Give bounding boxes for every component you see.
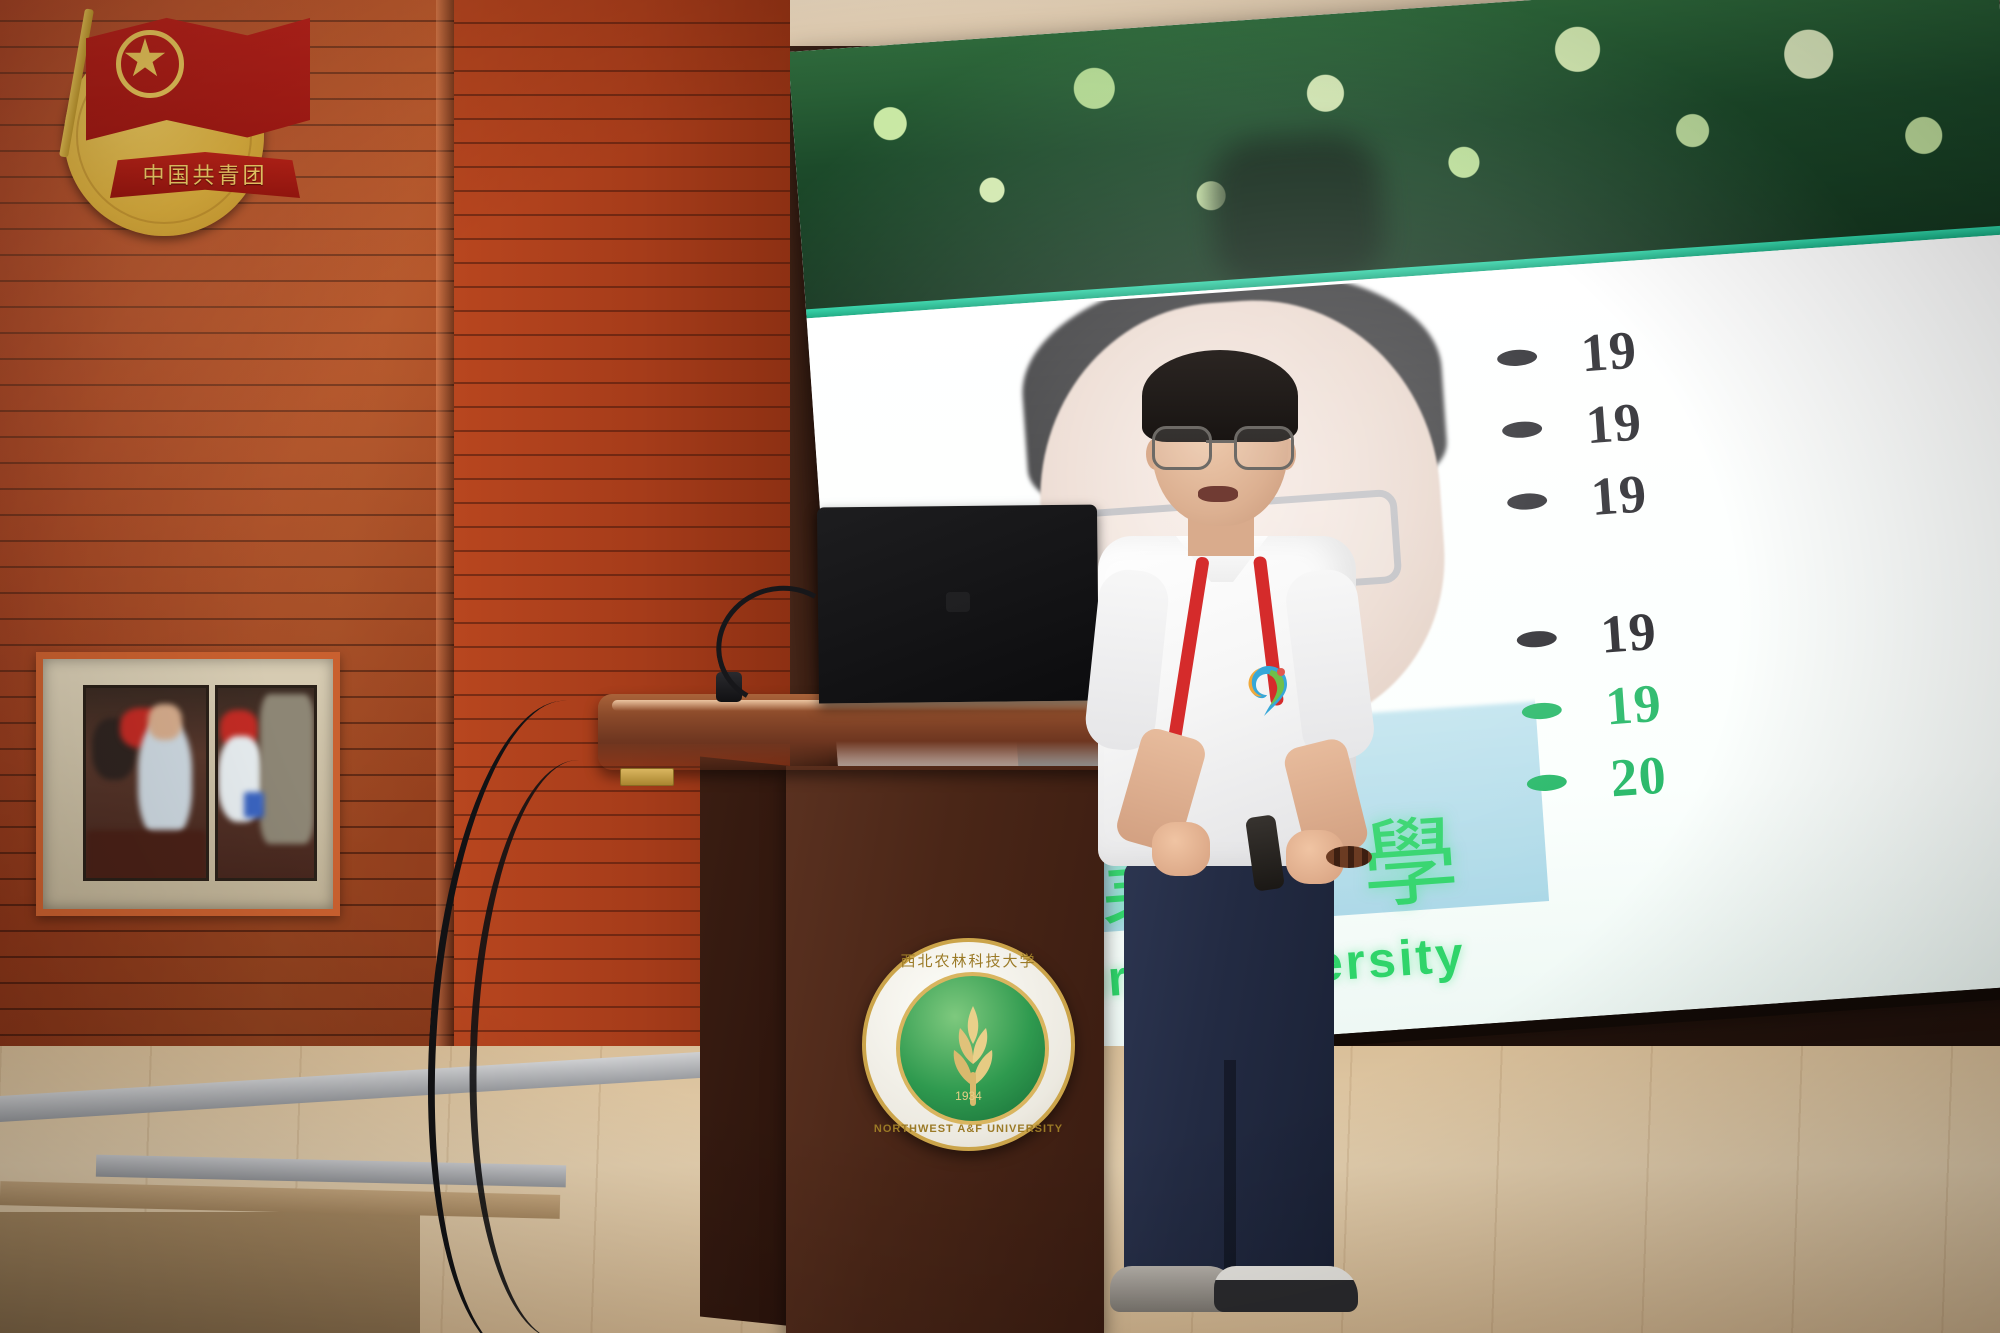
window-desk-shape: [86, 830, 206, 881]
window-pane-right: [215, 685, 317, 881]
presenter-shoe-right: [1214, 1266, 1358, 1312]
floor-lower-step: [0, 1212, 420, 1333]
communist-youth-league-emblem: 中国共青团: [28, 8, 308, 238]
slide-bullet-text: 19: [1584, 390, 1644, 456]
presenter-laptop[interactable]: [817, 505, 1099, 704]
lectern-side: [700, 757, 790, 1326]
presenter-hand-left: [1152, 822, 1210, 876]
slide-bullet-text: 19: [1603, 672, 1663, 738]
slide-photo-shadow: [1207, 131, 1387, 292]
slide-bullet-text: 19: [1598, 600, 1658, 666]
glasses-lens-left: [1152, 426, 1212, 470]
laptop-logo-icon: [946, 592, 970, 612]
slide-bullet-text: 19: [1579, 319, 1639, 385]
presenter-mouth: [1198, 486, 1238, 502]
presenter: [1090, 360, 1400, 1333]
presenter-shirt-logo-icon: [1240, 660, 1294, 722]
glasses-bridge: [1206, 440, 1234, 443]
bullet-dot-icon: [1497, 349, 1538, 368]
window-pane-left: [83, 685, 209, 881]
presenter-bracelet: [1326, 846, 1372, 868]
window-person-shape: [260, 694, 314, 844]
presenter-leg-split: [1224, 1060, 1236, 1280]
slide-bullet-text: 19: [1589, 462, 1649, 528]
emblem-banner-text: 中国共青团: [114, 158, 296, 190]
lecture-hall-scene: 19 19 19 19 19 20: [0, 0, 2000, 1333]
emblem-founding-year: 1934: [866, 1089, 1071, 1103]
glasses-lens-right: [1234, 426, 1294, 470]
northwest-af-university-emblem: 西北农林科技大学 1934 NORTHWEST A&F UNIVERSITY: [862, 938, 1075, 1151]
presenter-glasses-icon: [1152, 426, 1290, 466]
bullet-dot-icon: [1507, 492, 1548, 511]
bullet-dot-icon: [1521, 702, 1562, 721]
window-cup-shape: [244, 792, 264, 818]
emblem-chinese-name: 西北农林科技大学: [866, 950, 1071, 971]
lectern-nameplate: [620, 768, 674, 786]
bullet-dot-icon: [1516, 630, 1557, 649]
emblem-english-name: NORTHWEST A&F UNIVERSITY: [866, 1123, 1071, 1135]
window-person-shape: [148, 704, 182, 740]
service-window: [36, 652, 340, 916]
slide-bullet-list: 19 19 19 19 19 20: [1495, 290, 2000, 820]
bullet-dot-icon: [1502, 420, 1543, 439]
